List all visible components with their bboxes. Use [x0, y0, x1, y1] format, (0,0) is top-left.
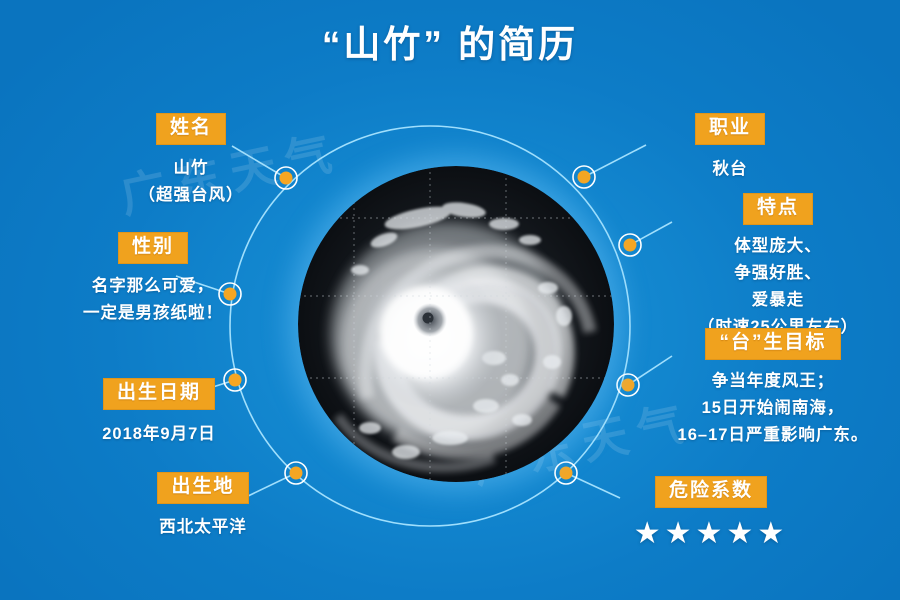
field-features-line: 争强好胜、: [668, 260, 888, 287]
field-name-line: （超强台风）: [96, 182, 286, 209]
field-birth-date-tag: 出生日期: [103, 378, 215, 410]
field-birth-place-tag: 出生地: [157, 472, 248, 504]
field-gender-line: 一定是男孩纸啦！: [58, 300, 248, 327]
field-gender-line: 名字那么可爱，: [58, 273, 248, 300]
field-danger-rating-tag: 危险系数: [655, 476, 767, 508]
field-features: 特点 体型庞大、 争强好胜、 爱暴走 （时速25公里左右）: [668, 193, 888, 340]
field-name-tag: 姓名: [156, 113, 226, 145]
danger-rating-stars: ★★★★★: [616, 517, 806, 550]
typhoon-satellite-image: [298, 166, 614, 482]
field-goal: “台”生目标 争当年度风王； 15日开始闹南海， 16–17日严重影响广东。: [656, 328, 890, 449]
field-birth-date-value: 2018年9月7日: [64, 421, 254, 448]
field-features-line: 爱暴走: [668, 287, 888, 314]
field-goal-line: 15日开始闹南海，: [656, 395, 890, 422]
field-danger-rating: 危险系数 ★★★★★: [616, 476, 806, 550]
field-goal-tag: “台”生目标: [705, 328, 840, 360]
field-birth-place: 出生地 西北太平洋: [110, 472, 296, 541]
field-occupation: 职业 秋台: [640, 113, 820, 183]
field-occupation-tag: 职业: [695, 113, 765, 145]
field-goal-line: 16–17日严重影响广东。: [656, 422, 890, 449]
field-gender: 性别 名字那么可爱， 一定是男孩纸啦！: [58, 232, 248, 327]
field-birth-place-value: 西北太平洋: [110, 514, 296, 541]
field-gender-tag: 性别: [118, 232, 188, 264]
field-features-line: 体型庞大、: [668, 233, 888, 260]
infographic-canvas: 广东天气 广东天气 “山竹” 的简历: [0, 0, 900, 600]
field-name-line: 山竹: [96, 155, 286, 182]
field-occupation-value: 秋台: [640, 156, 820, 183]
field-features-tag: 特点: [743, 193, 813, 225]
field-goal-line: 争当年度风王；: [656, 368, 890, 395]
field-birth-date: 出生日期 2018年9月7日: [64, 378, 254, 448]
field-name: 姓名 山竹 （超强台风）: [96, 113, 286, 209]
